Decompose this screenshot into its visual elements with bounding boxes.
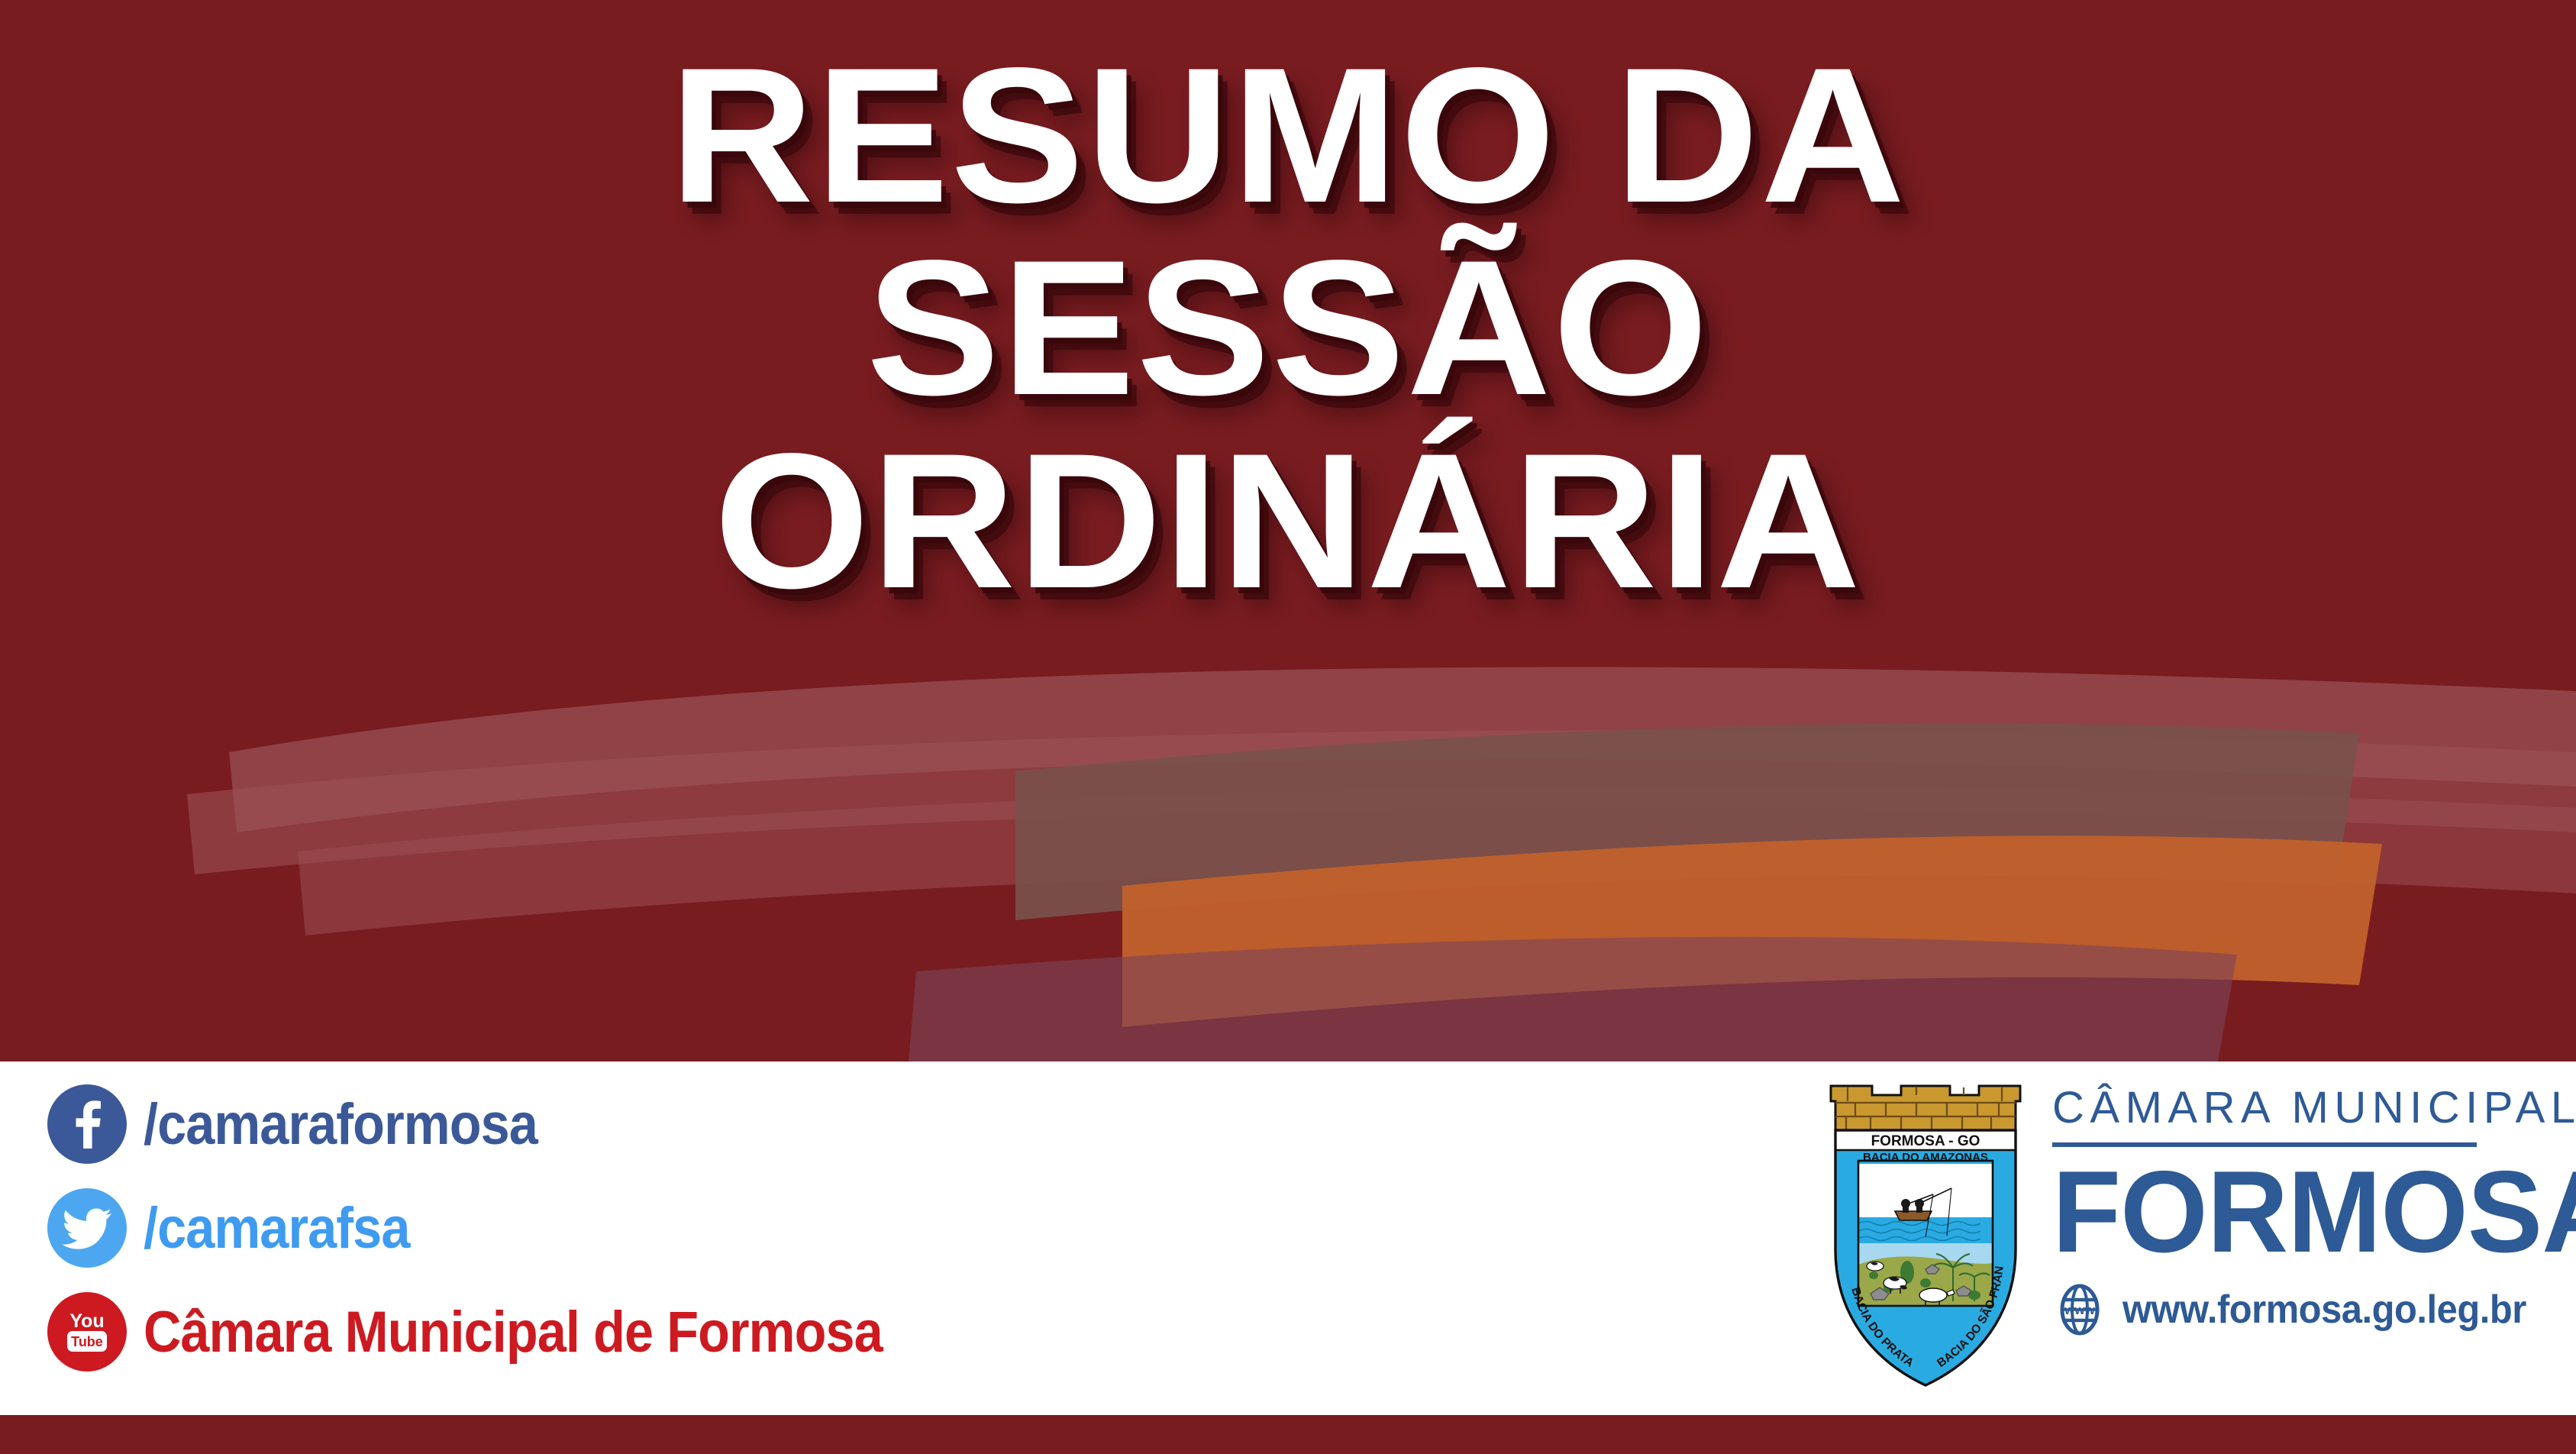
crest-city-label: FORMOSA - GO	[1871, 1133, 1980, 1149]
facebook-icon[interactable]	[47, 1084, 127, 1164]
globe-www-text: www	[2064, 1303, 2095, 1317]
bottom-accent-bar	[0, 1415, 2576, 1454]
social-row-facebook[interactable]: /camaraformosa	[47, 1080, 964, 1168]
logo-subtitle: CÂMARA MUNICIPAL	[2052, 1086, 2576, 1130]
twitter-handle[interactable]: /camarafsa	[144, 1195, 409, 1262]
poster-root: RESUMO DA SESSÃO ORDINÁRIA /camaraformos…	[0, 0, 2576, 1454]
youtube-glyph: You Tube	[47, 1292, 127, 1372]
facebook-glyph	[47, 1084, 127, 1164]
social-links-block: /camaraformosa /camarafsa You	[47, 1080, 964, 1376]
title-line-2: SESSÃO	[867, 235, 1710, 422]
footer-section: /camaraformosa /camarafsa You	[0, 1061, 2576, 1415]
hero-title: RESUMO DA SESSÃO ORDINÁRIA	[0, 0, 2576, 1061]
youtube-icon[interactable]: You Tube	[47, 1292, 127, 1372]
logo-wordmark: CÂMARA MUNICIPAL FORMOSA www www.formosa…	[2052, 1072, 2576, 1337]
svg-text:You: You	[69, 1310, 104, 1332]
hero-section: RESUMO DA SESSÃO ORDINÁRIA	[0, 0, 2576, 1061]
globe-www-icon: www	[2052, 1282, 2107, 1337]
twitter-icon[interactable]	[47, 1188, 127, 1268]
title-line-3: ORDINÁRIA	[714, 428, 1862, 615]
coat-of-arms-crest: FORMOSA - GO BACIA DO AMAZONAS	[1825, 1072, 2026, 1393]
crest-basin-top-label: BACIA DO AMAZONAS	[1863, 1151, 1988, 1164]
website-url[interactable]: www.formosa.go.leg.br	[2122, 1287, 2526, 1333]
youtube-channel-name[interactable]: Câmara Municipal de Formosa	[144, 1299, 883, 1365]
crest-wall	[1831, 1086, 2020, 1130]
website-row[interactable]: www www.formosa.go.leg.br	[2052, 1282, 2576, 1337]
institution-logo-block: FORMOSA - GO BACIA DO AMAZONAS	[1825, 1072, 2576, 1393]
social-row-twitter[interactable]: /camarafsa	[47, 1184, 964, 1272]
social-row-youtube[interactable]: You Tube Câmara Municipal de Formosa	[47, 1288, 964, 1376]
logo-name: FORMOSA	[2052, 1153, 2576, 1271]
facebook-handle[interactable]: /camaraformosa	[144, 1091, 537, 1158]
twitter-glyph	[47, 1188, 127, 1268]
svg-text:Tube: Tube	[71, 1334, 103, 1349]
title-line-1: RESUMO DA	[670, 43, 1906, 229]
